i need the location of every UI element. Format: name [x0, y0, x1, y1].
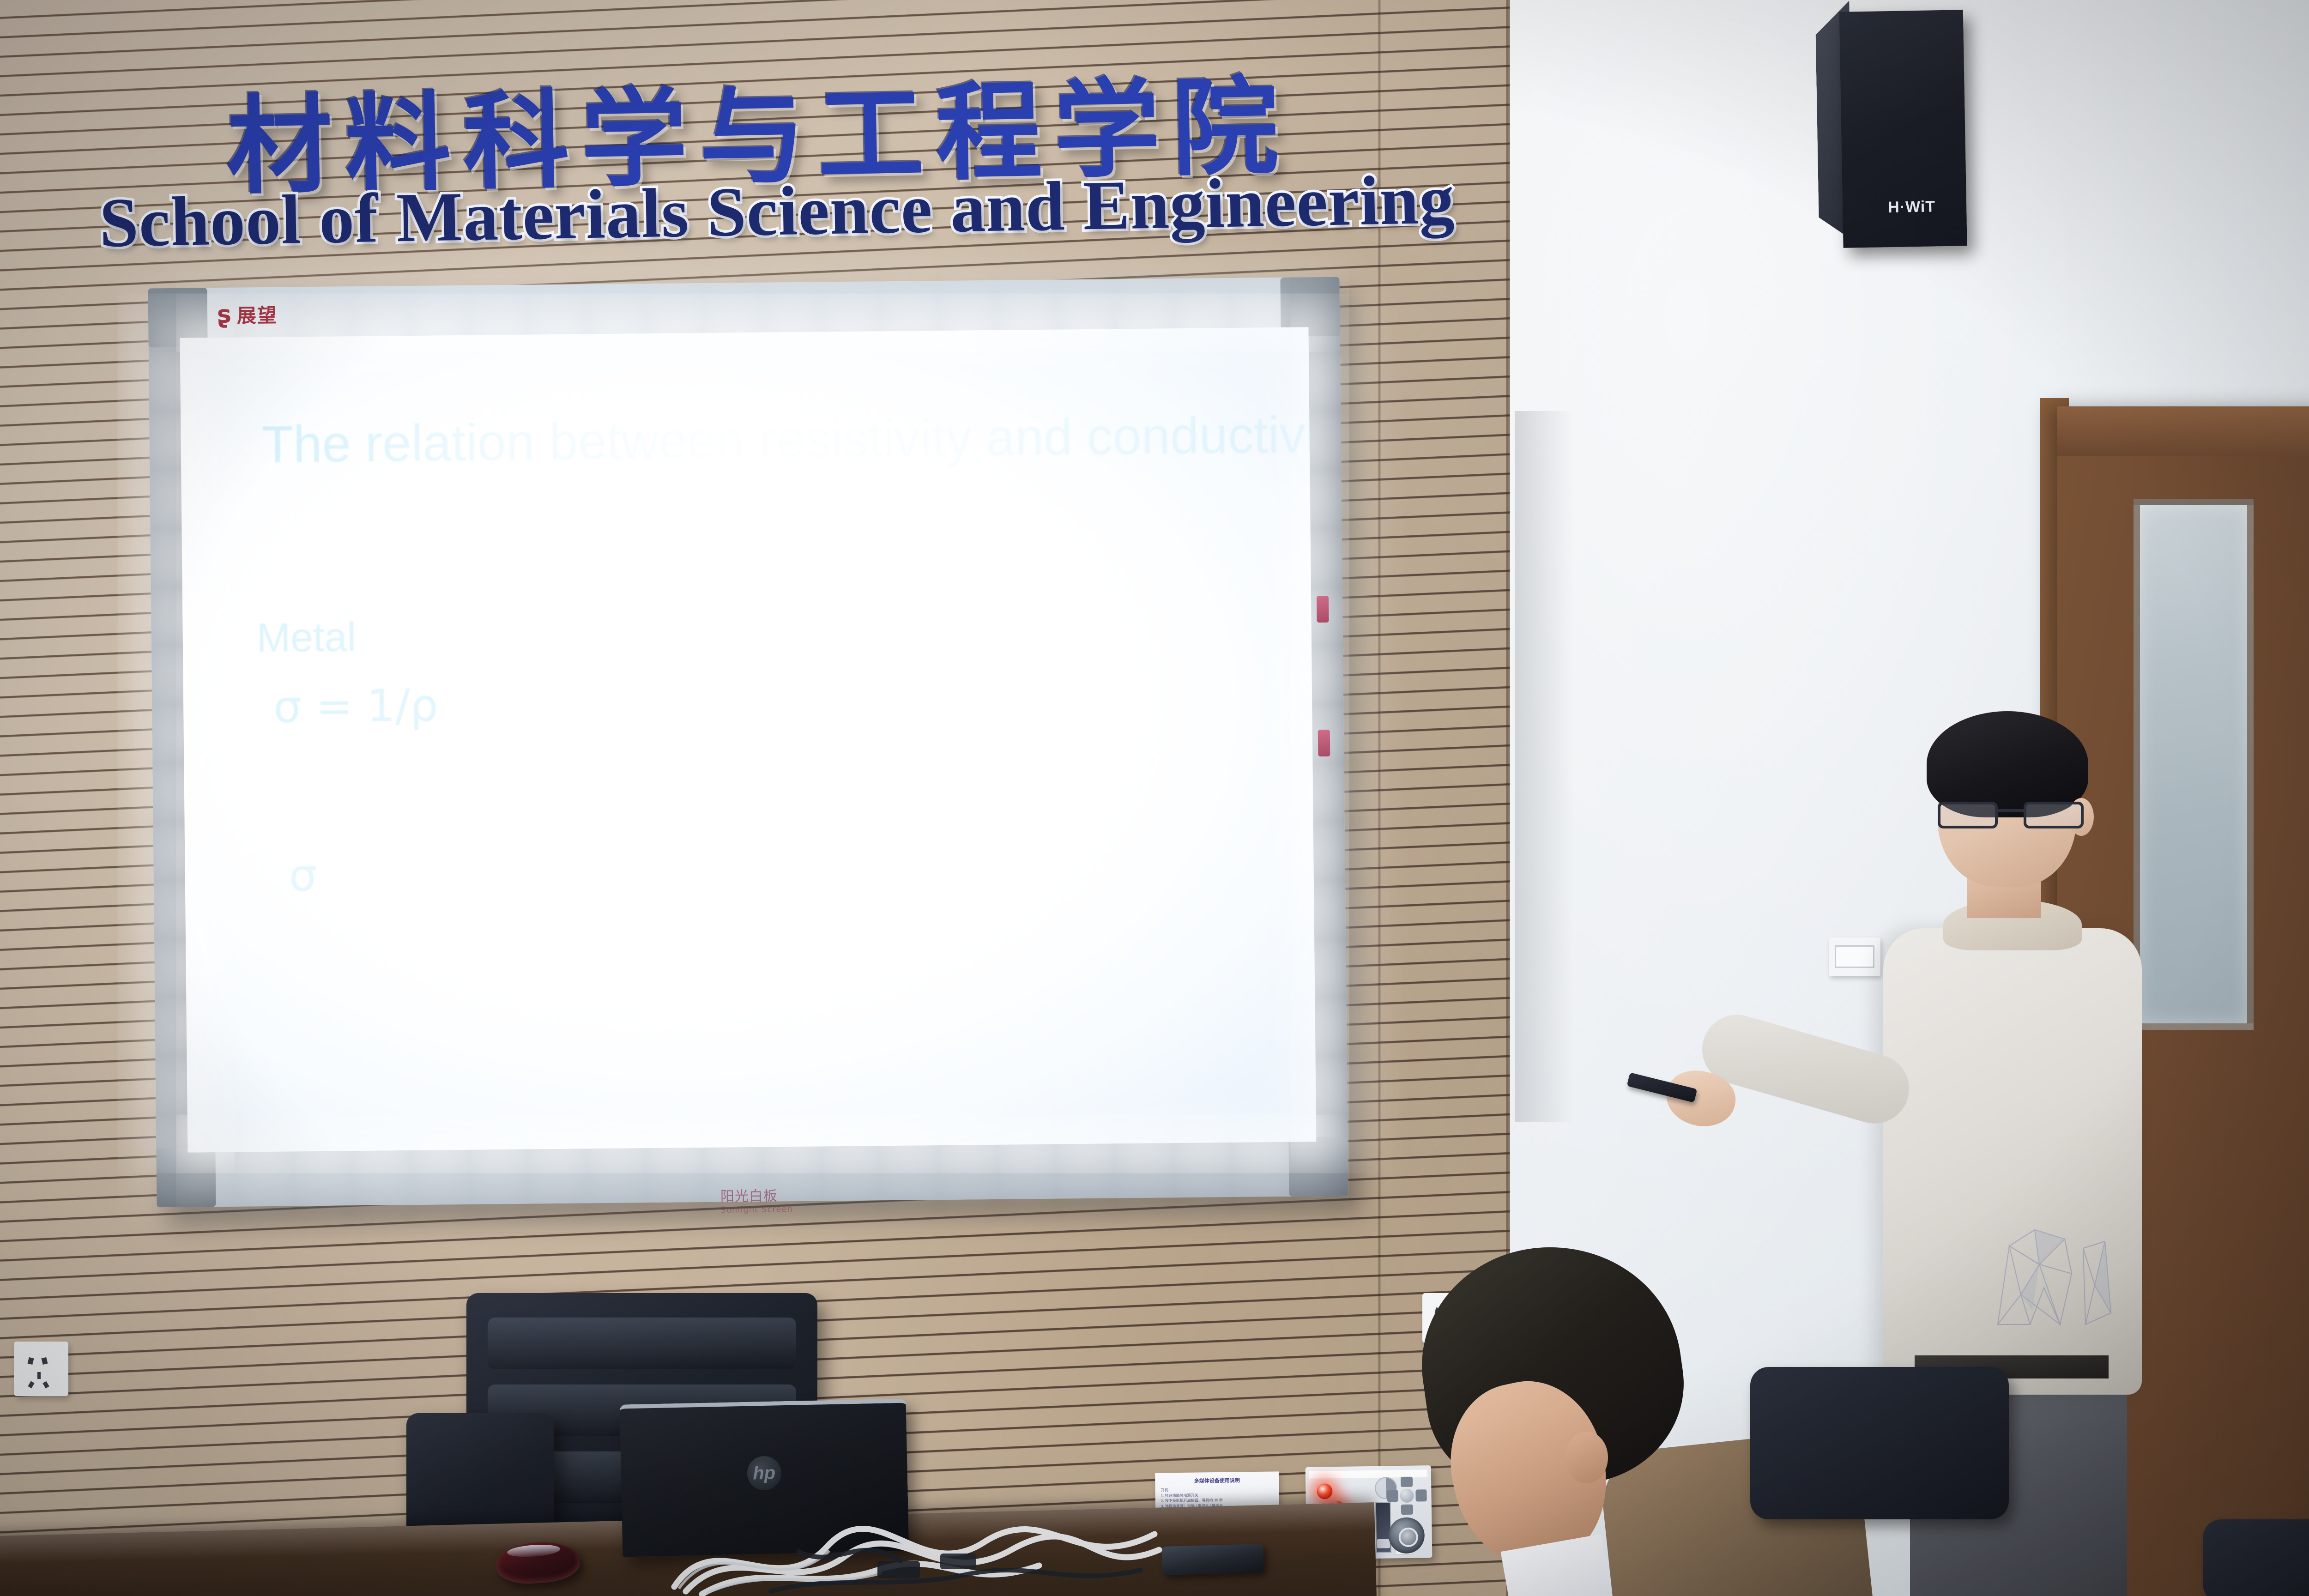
whiteboard-brand-mark-icon: ʂ [217, 301, 233, 328]
wall-speaker: H·WiT [1815, 0, 1967, 248]
pen-tray-tab-lower[interactable] [1318, 730, 1330, 756]
slide-equation-2: σ [289, 849, 317, 901]
whiteboard-corner-bottom-right [1288, 1137, 1348, 1197]
door-header-trim [2057, 406, 2309, 456]
room-photo-scene: 材料科学与工程学院 School of Materials Science an… [0, 0, 2309, 1596]
slide-title: The relation between resistivity and con… [261, 404, 1316, 474]
notice-heading: 多媒体设备使用说明 [1161, 1476, 1273, 1485]
slide-subtitle: Metal [256, 613, 356, 661]
slide-equation-1: σ = 1/ρ [273, 679, 439, 732]
projected-slide: The relation between resistivity and con… [180, 327, 1317, 1152]
cable-bundle [660, 1505, 1168, 1596]
attendee-ear [1566, 1432, 1608, 1483]
projection-screen[interactable]: The relation between resistivity and con… [180, 327, 1317, 1152]
presenter-glasses [1938, 802, 2084, 830]
wall-band [1515, 411, 1575, 1122]
whiteboard-brand-top: ʂ展望 [217, 300, 278, 328]
glasses-bridge [1998, 809, 2024, 812]
conference-chair-right[interactable] [1750, 1367, 2009, 1519]
pen-tray-tab-upper[interactable] [1317, 596, 1329, 623]
presenter-sweater [1883, 928, 2142, 1395]
speaker-brand-label: H·WiT [1888, 198, 1936, 217]
power-outlet-left[interactable] [14, 1342, 68, 1396]
whiteboard-corner-bottom-left [156, 1148, 216, 1207]
smartphone[interactable] [1161, 1544, 1264, 1575]
interactive-whiteboard[interactable]: The relation between resistivity and con… [148, 277, 1348, 1208]
sweater-graphic-icon [1984, 1214, 2122, 1329]
conference-chair-far-right[interactable] [2203, 1519, 2309, 1596]
whiteboard-brand-bottom: 阳光白板 Sunlight Screen [720, 1184, 793, 1215]
power-led-1 [1317, 1483, 1332, 1499]
glasses-lens-right [2024, 802, 2084, 828]
glasses-lens-left [1938, 802, 1998, 828]
